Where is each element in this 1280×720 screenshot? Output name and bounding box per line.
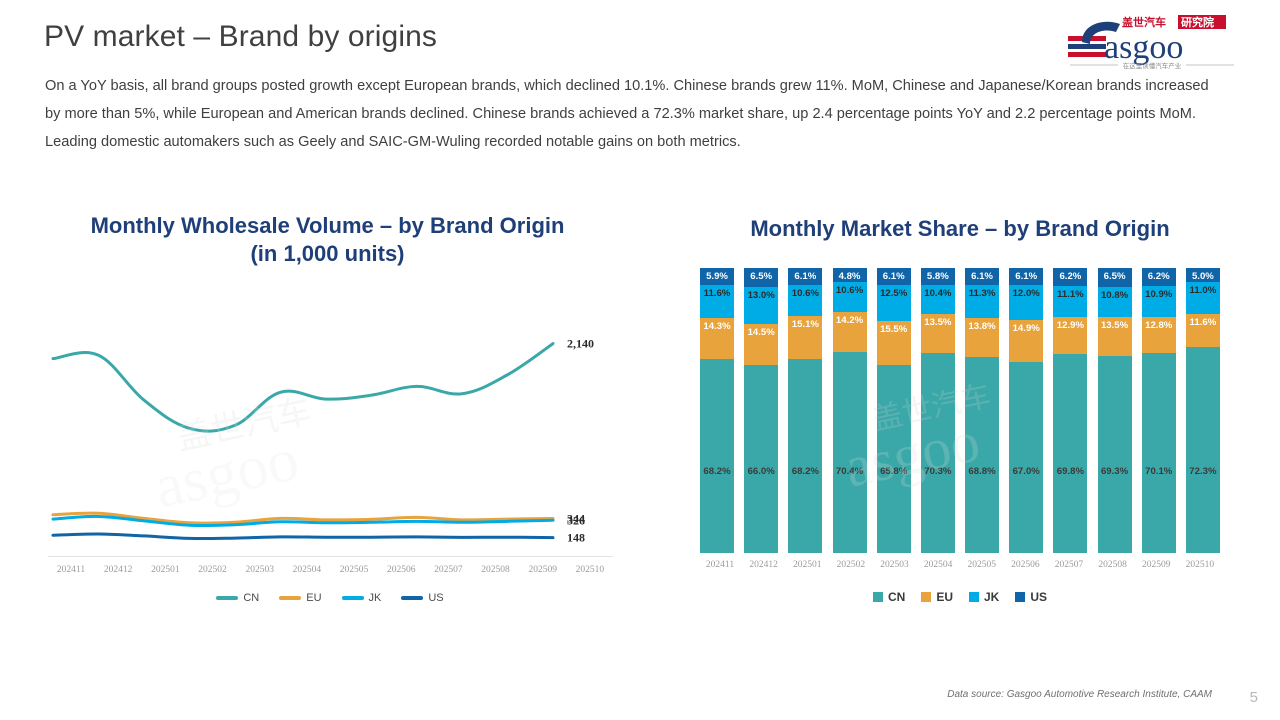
line-x-label-202504: 202504 xyxy=(284,565,330,575)
svg-text:asgoo: asgoo xyxy=(1104,29,1183,66)
bar-segment-eu: 15.5% xyxy=(877,321,911,365)
bar-x-label-202506: 202506 xyxy=(1005,560,1045,570)
bar-value-label-cn: 68.2% xyxy=(792,466,819,477)
bar-chart-plot: 5.9%11.6%14.3%68.2%6.5%13.0%14.5%66.0%6.… xyxy=(700,268,1220,553)
line-end-label-cn: 2,140 xyxy=(567,337,594,351)
line-legend-label: CN xyxy=(243,592,259,604)
bar-value-label-jk: 13.0% xyxy=(748,290,775,301)
bar-value-label-us: 6.5% xyxy=(750,271,772,282)
bar-value-label-eu: 12.8% xyxy=(1145,320,1172,331)
bar-column-202503[interactable]: 6.1%12.5%15.5%65.8% xyxy=(877,268,911,553)
bar-x-label-202501: 202501 xyxy=(787,560,827,570)
bar-segment-us: 6.1% xyxy=(788,268,822,285)
bar-x-label-202504: 202504 xyxy=(918,560,958,570)
bar-segment-eu: 12.8% xyxy=(1142,317,1176,353)
bar-segment-eu: 14.3% xyxy=(700,318,734,359)
bar-value-label-cn: 69.8% xyxy=(1057,466,1084,477)
bar-value-label-us: 6.2% xyxy=(1148,271,1170,282)
line-end-label-jk: 326 xyxy=(567,513,585,527)
svg-text:在这里读懂汽车产业: 在这里读懂汽车产业 xyxy=(1123,61,1182,70)
bar-segment-eu: 13.5% xyxy=(1098,317,1132,355)
bar-value-label-eu: 13.8% xyxy=(968,321,995,332)
bar-segment-jk: 12.0% xyxy=(1009,285,1043,319)
bar-segment-us: 5.0% xyxy=(1186,268,1220,282)
bar-legend-item-us[interactable]: US xyxy=(1015,590,1047,604)
bar-legend-label: JK xyxy=(984,590,999,604)
bar-segment-jk: 13.0% xyxy=(744,287,778,324)
line-chart-title-line2: (in 1,000 units) xyxy=(45,240,610,268)
bar-column-202509[interactable]: 6.2%10.9%12.8%70.1% xyxy=(1142,268,1176,553)
bar-x-label-202509: 202509 xyxy=(1136,560,1176,570)
line-end-label-us: 148 xyxy=(567,531,585,545)
bar-value-label-eu: 14.2% xyxy=(836,315,863,326)
line-series-cn xyxy=(53,344,553,432)
bar-segment-cn: 68.8% xyxy=(965,357,999,553)
bar-value-label-us: 5.8% xyxy=(927,271,949,282)
bar-segment-eu: 13.8% xyxy=(965,318,999,357)
bar-segment-cn: 68.2% xyxy=(700,359,734,553)
bar-legend-item-jk[interactable]: JK xyxy=(969,590,999,604)
bar-segment-eu: 14.2% xyxy=(833,312,867,352)
bar-value-label-eu: 12.9% xyxy=(1057,320,1084,331)
bar-segment-jk: 10.6% xyxy=(833,282,867,312)
bar-value-label-cn: 68.2% xyxy=(703,466,730,477)
bar-value-label-jk: 12.5% xyxy=(880,288,907,299)
bar-x-label-202503: 202503 xyxy=(875,560,915,570)
bar-value-label-jk: 10.4% xyxy=(924,288,951,299)
bar-value-label-cn: 72.3% xyxy=(1189,466,1216,477)
bar-segment-jk: 10.9% xyxy=(1142,286,1176,317)
line-chart-plot: 2,140344326148 xyxy=(45,280,615,570)
line-x-label-202509: 202509 xyxy=(520,565,566,575)
bar-value-label-jk: 10.8% xyxy=(1101,290,1128,301)
bar-segment-cn: 70.1% xyxy=(1142,353,1176,553)
bar-segment-eu: 14.9% xyxy=(1009,320,1043,362)
page-number: 5 xyxy=(1250,689,1258,706)
bar-x-label-202510: 202510 xyxy=(1180,560,1220,570)
data-source-note: Data source: Gasgoo Automotive Research … xyxy=(947,689,1212,700)
bar-value-label-jk: 12.0% xyxy=(1013,288,1040,299)
bar-segment-us: 4.8% xyxy=(833,268,867,282)
legend-swatch-icon xyxy=(873,592,883,602)
bar-x-label-202507: 202507 xyxy=(1049,560,1089,570)
bar-column-202505[interactable]: 6.1%11.3%13.8%68.8% xyxy=(965,268,999,553)
bar-column-202504[interactable]: 5.8%10.4%13.5%70.3% xyxy=(921,268,955,553)
line-legend-label: JK xyxy=(369,592,382,604)
bar-legend-label: CN xyxy=(888,590,905,604)
bar-segment-us: 5.9% xyxy=(700,268,734,285)
bar-value-label-jk: 10.9% xyxy=(1145,289,1172,300)
bar-segment-us: 6.2% xyxy=(1142,268,1176,286)
bar-segment-cn: 70.3% xyxy=(921,353,955,553)
legend-swatch-icon xyxy=(279,596,301,600)
bar-segment-cn: 70.4% xyxy=(833,352,867,553)
bar-value-label-eu: 11.6% xyxy=(1190,317,1217,328)
slide-root: PV market – Brand by origins On a YoY ba… xyxy=(0,0,1280,720)
line-legend-label: EU xyxy=(306,592,321,604)
line-legend-item-jk[interactable]: JK xyxy=(342,592,382,604)
legend-swatch-icon xyxy=(342,596,364,600)
bar-segment-jk: 12.5% xyxy=(877,285,911,321)
bar-value-label-us: 6.2% xyxy=(1059,271,1081,282)
bar-x-label-202502: 202502 xyxy=(831,560,871,570)
bar-value-label-eu: 15.5% xyxy=(880,324,907,335)
bar-segment-cn: 69.8% xyxy=(1053,354,1087,553)
line-x-label-202510: 202510 xyxy=(567,565,613,575)
bar-segment-eu: 14.5% xyxy=(744,324,778,365)
bar-column-202506[interactable]: 6.1%12.0%14.9%67.0% xyxy=(1009,268,1043,553)
bar-value-label-jk: 11.6% xyxy=(704,288,731,299)
bar-chart-legend: CNEUJKUS xyxy=(700,590,1220,604)
line-x-label-202503: 202503 xyxy=(237,565,283,575)
bar-segment-eu: 13.5% xyxy=(921,314,955,352)
legend-swatch-icon xyxy=(401,596,423,600)
bar-segment-cn: 65.8% xyxy=(877,365,911,553)
legend-swatch-icon xyxy=(216,596,238,600)
bar-legend-item-cn[interactable]: CN xyxy=(873,590,905,604)
bar-value-label-cn: 67.0% xyxy=(1013,466,1040,477)
bar-value-label-us: 5.0% xyxy=(1192,271,1214,282)
bar-chart-x-axis-labels: 2024112024122025012025022025032025042025… xyxy=(700,560,1220,570)
bar-value-label-us: 4.8% xyxy=(839,271,861,282)
bar-value-label-jk: 11.0% xyxy=(1190,285,1217,296)
bar-segment-cn: 69.3% xyxy=(1098,356,1132,553)
bar-value-label-jk: 11.1% xyxy=(1057,289,1084,300)
bar-segment-us: 6.5% xyxy=(1098,268,1132,287)
bar-column-202508[interactable]: 6.5%10.8%13.5%69.3% xyxy=(1098,268,1132,553)
bar-segment-cn: 67.0% xyxy=(1009,362,1043,553)
bar-segment-eu: 11.6% xyxy=(1186,314,1220,347)
bar-segment-jk: 11.3% xyxy=(965,285,999,317)
bar-column-202502[interactable]: 4.8%10.6%14.2%70.4% xyxy=(833,268,867,553)
bar-legend-label: US xyxy=(1030,590,1047,604)
svg-text:研究院: 研究院 xyxy=(1181,15,1214,29)
bar-value-label-us: 6.1% xyxy=(971,271,993,282)
svg-text:盖世汽车: 盖世汽车 xyxy=(1122,15,1166,29)
line-x-label-202412: 202412 xyxy=(95,565,141,575)
bar-value-label-jk: 10.6% xyxy=(792,288,819,299)
bar-value-label-cn: 70.1% xyxy=(1145,466,1172,477)
bar-chart-title: Monthly Market Share – by Brand Origin xyxy=(700,215,1220,243)
bar-value-label-us: 6.5% xyxy=(1104,271,1126,282)
bar-value-label-jk: 10.6% xyxy=(836,285,863,296)
bar-segment-us: 6.1% xyxy=(1009,268,1043,285)
line-legend-item-us[interactable]: US xyxy=(401,592,443,604)
bar-value-label-eu: 14.3% xyxy=(703,321,730,332)
bar-value-label-us: 6.1% xyxy=(794,271,816,282)
bar-value-label-cn: 68.8% xyxy=(968,466,995,477)
line-series-us xyxy=(53,534,553,539)
bar-value-label-cn: 70.4% xyxy=(836,466,863,477)
bar-column-202501[interactable]: 6.1%10.6%15.1%68.2% xyxy=(788,268,822,553)
bar-legend-item-eu[interactable]: EU xyxy=(921,590,953,604)
legend-swatch-icon xyxy=(921,592,931,602)
line-legend-item-cn[interactable]: CN xyxy=(216,592,259,604)
bar-segment-jk: 10.8% xyxy=(1098,287,1132,318)
bar-segment-us: 6.1% xyxy=(877,268,911,285)
bar-value-label-eu: 13.5% xyxy=(924,317,951,328)
bar-segment-jk: 10.6% xyxy=(788,285,822,315)
bar-value-label-us: 6.1% xyxy=(1015,271,1037,282)
bar-value-label-eu: 13.5% xyxy=(1101,320,1128,331)
bar-segment-us: 6.1% xyxy=(965,268,999,285)
bar-value-label-jk: 11.3% xyxy=(969,288,996,299)
gasgoo-logo: asgoo 盖世汽车 研究院 在这里读懂汽车产业 xyxy=(1060,8,1240,70)
line-x-label-202501: 202501 xyxy=(142,565,188,575)
bar-segment-us: 5.8% xyxy=(921,268,955,285)
bar-value-label-eu: 14.5% xyxy=(748,327,775,338)
bar-segment-jk: 11.6% xyxy=(700,285,734,318)
bar-segment-jk: 11.0% xyxy=(1186,282,1220,313)
line-x-label-202507: 202507 xyxy=(425,565,471,575)
line-chart-title-line1: Monthly Wholesale Volume – by Brand Orig… xyxy=(45,212,610,240)
bar-segment-cn: 68.2% xyxy=(788,359,822,553)
line-x-label-202506: 202506 xyxy=(378,565,424,575)
bar-value-label-us: 6.1% xyxy=(883,271,905,282)
line-x-label-202505: 202505 xyxy=(331,565,377,575)
line-x-label-202411: 202411 xyxy=(48,565,94,575)
legend-swatch-icon xyxy=(1015,592,1025,602)
line-chart-legend: CNEUJKUS xyxy=(45,592,615,604)
bar-segment-eu: 12.9% xyxy=(1053,317,1087,354)
bar-column-202510[interactable]: 5.0%11.0%11.6%72.3% xyxy=(1186,268,1220,553)
bar-segment-us: 6.2% xyxy=(1053,268,1087,286)
gasgoo-logo-icon: asgoo 盖世汽车 研究院 在这里读懂汽车产业 xyxy=(1060,8,1240,70)
bar-value-label-us: 5.9% xyxy=(706,271,728,282)
line-chart-axis xyxy=(48,556,613,557)
bar-legend-label: EU xyxy=(936,590,953,604)
line-legend-item-eu[interactable]: EU xyxy=(279,592,321,604)
bar-segment-jk: 10.4% xyxy=(921,285,955,315)
summary-paragraph: On a YoY basis, all brand groups posted … xyxy=(45,72,1220,156)
bar-segment-jk: 11.1% xyxy=(1053,286,1087,318)
page-title: PV market – Brand by origins xyxy=(44,20,437,54)
bar-value-label-cn: 70.3% xyxy=(924,466,951,477)
bar-x-label-202508: 202508 xyxy=(1093,560,1133,570)
bar-chart-columns: 5.9%11.6%14.3%68.2%6.5%13.0%14.5%66.0%6.… xyxy=(700,268,1220,553)
bar-value-label-cn: 65.8% xyxy=(880,466,907,477)
line-x-label-202502: 202502 xyxy=(190,565,236,575)
bar-segment-us: 6.5% xyxy=(744,268,778,287)
bar-value-label-eu: 14.9% xyxy=(1013,323,1040,334)
bar-column-202507[interactable]: 6.2%11.1%12.9%69.8% xyxy=(1053,268,1087,553)
bar-x-label-202412: 202412 xyxy=(744,560,784,570)
line-chart-x-axis-labels: 2024112024122025012025022025032025042025… xyxy=(48,565,613,575)
bar-segment-eu: 15.1% xyxy=(788,316,822,359)
bar-x-label-202505: 202505 xyxy=(962,560,1002,570)
bar-value-label-cn: 69.3% xyxy=(1101,466,1128,477)
bar-value-label-eu: 15.1% xyxy=(792,319,819,330)
bar-segment-cn: 72.3% xyxy=(1186,347,1220,553)
bar-column-202411[interactable]: 5.9%11.6%14.3%68.2% xyxy=(700,268,734,553)
line-x-label-202508: 202508 xyxy=(473,565,519,575)
bar-segment-cn: 66.0% xyxy=(744,365,778,553)
line-chart-title: Monthly Wholesale Volume – by Brand Orig… xyxy=(45,212,610,268)
bar-value-label-cn: 66.0% xyxy=(748,466,775,477)
bar-column-202412[interactable]: 6.5%13.0%14.5%66.0% xyxy=(744,268,778,553)
legend-swatch-icon xyxy=(969,592,979,602)
line-legend-label: US xyxy=(428,592,443,604)
bar-x-label-202411: 202411 xyxy=(700,560,740,570)
